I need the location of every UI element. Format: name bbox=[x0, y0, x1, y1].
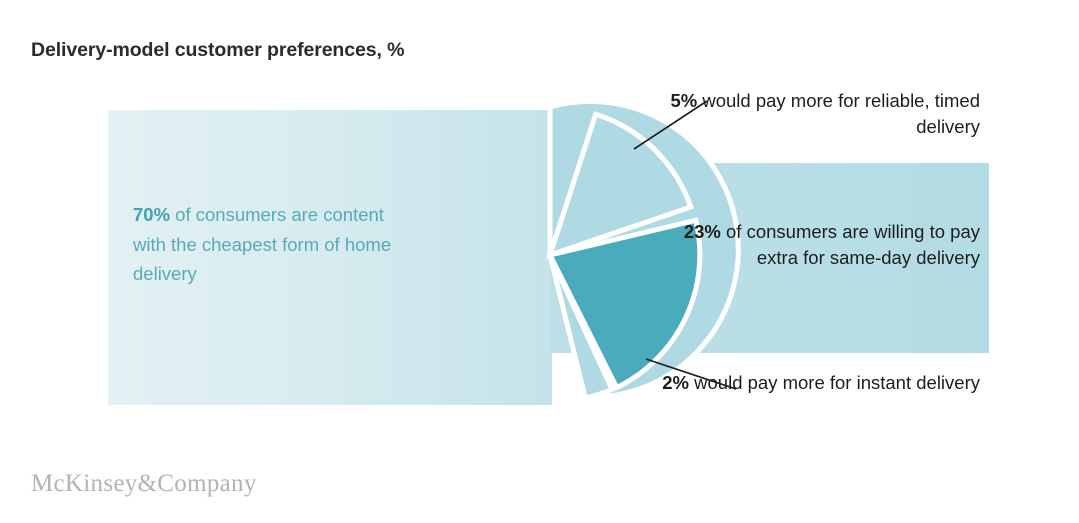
callout-right-value: 23% bbox=[684, 221, 721, 242]
callout-top-right: 5% would pay more for reliable, timed de… bbox=[640, 88, 980, 140]
callout-bottom-right: 2% would pay more for instant delivery bbox=[660, 370, 980, 396]
callout-left-text: of consumers are content with the cheape… bbox=[133, 204, 391, 284]
mckinsey-logo: McKinsey&Company bbox=[31, 470, 257, 498]
callout-top-right-value: 5% bbox=[670, 90, 697, 111]
callout-right-text: of consumers are willing to pay extra fo… bbox=[721, 221, 980, 268]
callout-bottom-right-value: 2% bbox=[662, 372, 689, 393]
callout-right: 23% of consumers are willing to pay extr… bbox=[650, 219, 980, 271]
callout-left: 70% of consumers are content with the ch… bbox=[133, 200, 393, 289]
callout-left-value: 70% bbox=[133, 204, 170, 225]
callout-bottom-right-text: would pay more for instant delivery bbox=[689, 372, 980, 393]
chart-root: Delivery-model customer preferences, % 7… bbox=[0, 0, 1079, 523]
callout-top-right-text: would pay more for reliable, timed deliv… bbox=[697, 90, 980, 137]
